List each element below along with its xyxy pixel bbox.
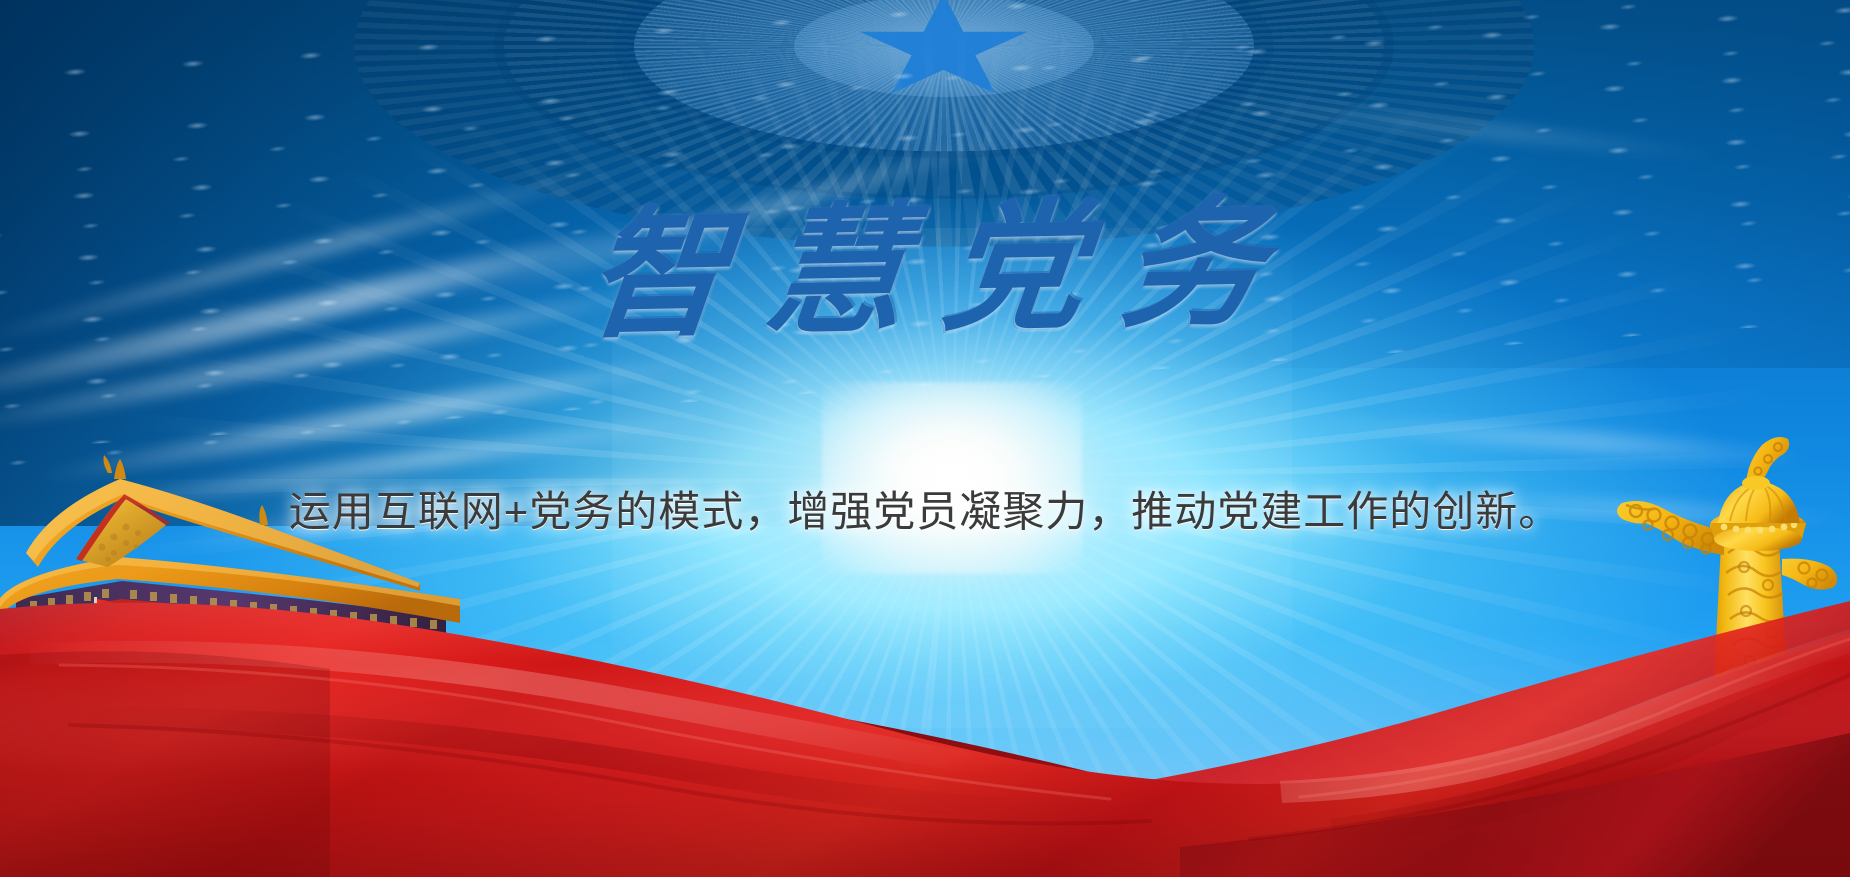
party-affairs-banner: 智慧党务 运用互联网+党务的模式，增强党员凝聚力，推动党建工作的创新。 [0, 0, 1850, 877]
huabiao-crown-base [1742, 476, 1770, 490]
sun-glow-icon [952, 478, 953, 479]
gate-ridge-ornament-right [259, 505, 268, 525]
red-silk-ribbon-icon [0, 547, 1850, 877]
gate-ridge-ornament-left [104, 455, 113, 473]
ribbon-left-shadow [0, 651, 330, 877]
huabiao-crown-beast [1746, 437, 1789, 483]
gate-ridge-ornament-center [114, 459, 126, 479]
